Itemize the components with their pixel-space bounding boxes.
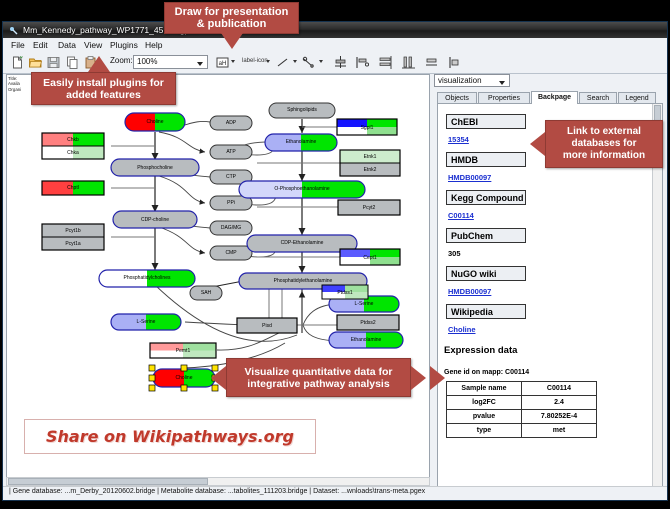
callout-draw-presentation: Draw for presentation & publication [164, 2, 299, 34]
tab-backpage[interactable]: Backpage [531, 91, 578, 104]
expression-data-table: Sample name C00114 log2FC 2.4 pvalue 7.8… [446, 381, 597, 438]
align-rows-icon[interactable] [378, 55, 393, 70]
screenshot-root: Mm_Kennedy_pathway_WP1771_45176.gpml Fil… [0, 0, 670, 509]
callout-install-plugins: Easily install plugins for added feature… [31, 72, 176, 105]
menu-item-file[interactable]: File [11, 39, 25, 51]
pathvisio-icon [9, 25, 19, 35]
cell-pvalue-value: 7.80252E-4 [522, 410, 597, 424]
status-bar: | Gene database: ...m_Derby_20120602.bri… [3, 486, 667, 500]
line-icon[interactable] [275, 55, 290, 70]
chevron-down-icon[interactable] [319, 60, 323, 63]
chevron-down-icon [499, 81, 505, 85]
bring-front-icon[interactable] [447, 55, 462, 70]
db-header-hmdb: HMDB [446, 152, 526, 167]
db-value-wikipedia[interactable]: Choline [448, 325, 476, 334]
title-bar: Mm_Kennedy_pathway_WP1771_45176.gpml [3, 22, 667, 38]
menu-item-view[interactable]: View [84, 39, 102, 51]
align-left-icon[interactable] [355, 55, 370, 70]
align-icon[interactable] [333, 55, 348, 70]
zoom-combo[interactable]: 100% [133, 55, 208, 69]
callout-arrow-right-visualize [411, 366, 426, 390]
table-row: type met [447, 424, 597, 438]
zoom-label: Zoom: [110, 56, 133, 65]
share-wikipathways-text: Share on Wikipathways.org [46, 427, 294, 446]
cell-type-label: type [447, 424, 522, 438]
chevron-down-icon[interactable] [231, 60, 235, 63]
callout-visualize-data: Visualize quantitative data for integrat… [226, 358, 411, 397]
chevron-down-icon [197, 62, 203, 66]
callout-viz-line1: Visualize quantitative data for [244, 366, 392, 378]
copy-icon[interactable] [65, 55, 80, 70]
anchor-icon[interactable] [301, 55, 316, 70]
callout-external-links: Link to external databases for more info… [545, 120, 663, 168]
callout-plugins-line1: Easily install plugins for [43, 77, 164, 89]
stack-icon[interactable] [424, 55, 439, 70]
open-folder-icon[interactable] [28, 55, 43, 70]
share-wikipathways-box: Share on Wikipathways.org [24, 419, 316, 454]
visualization-value: visualization [438, 76, 482, 85]
callout-draw-line2: & publication [197, 18, 267, 30]
zoom-value: 100% [137, 57, 157, 66]
cell-sample-name-label: Sample name [447, 382, 522, 396]
callout-arrow-up-plugins [88, 56, 110, 72]
svg-text:aH: aH [219, 61, 227, 67]
db-header-chebi: ChEBI [446, 114, 526, 129]
callout-plugins-line2: added features [66, 89, 141, 101]
callout-arrow-left-links [530, 132, 545, 156]
db-value-chebi[interactable]: 15354 [448, 135, 469, 144]
db-value-nugo[interactable]: HMDB00097 [448, 287, 491, 296]
callout-links-line2: databases for [571, 138, 636, 150]
chevron-down-icon[interactable] [293, 60, 297, 63]
chevron-down-icon[interactable] [266, 60, 270, 63]
cell-log2fc-value: 2.4 [522, 396, 597, 410]
menu-bar: File Edit Data View Plugins Help [3, 38, 667, 53]
visualization-combo[interactable]: visualization [434, 74, 510, 87]
gene-id-on-mapp: Gene id on mapp: C00114 [444, 369, 529, 376]
db-header-nugo: NuGO wiki [446, 266, 526, 281]
menu-item-help[interactable]: Help [145, 39, 162, 51]
cell-pvalue-label: pvalue [447, 410, 522, 424]
db-value-kegg[interactable]: C00114 [448, 211, 474, 220]
db-value-pubchem: 305 [448, 249, 461, 258]
expression-data-header: Expression data [444, 345, 517, 356]
menu-item-data[interactable]: Data [58, 39, 76, 51]
status-text: | Gene database: ...m_Derby_20120602.bri… [9, 488, 425, 495]
table-row: Sample name C00114 [447, 382, 597, 396]
db-value-hmdb[interactable]: HMDB00097 [448, 173, 491, 182]
callout-links-line1: Link to external [567, 126, 641, 138]
table-row: log2FC 2.4 [447, 396, 597, 410]
datanode-icon[interactable]: aH [215, 55, 230, 70]
callout-links-line3: more information [563, 150, 645, 162]
table-row: pvalue 7.80252E-4 [447, 410, 597, 424]
label-tool-label[interactable]: label-icon [242, 58, 268, 64]
db-header-wikipedia: Wikipedia [446, 304, 526, 319]
menu-item-plugins[interactable]: Plugins [110, 39, 138, 51]
db-header-kegg: Kegg Compound [446, 190, 526, 205]
cell-log2fc-label: log2FC [447, 396, 522, 410]
save-icon[interactable] [46, 55, 61, 70]
callout-draw-line1: Draw for presentation [175, 6, 289, 18]
scrollbar-thumb[interactable] [8, 478, 208, 485]
callout-arrow-right-expression [430, 366, 445, 390]
db-header-pubchem: PubChem [446, 228, 526, 243]
canvas-horizontal-scrollbar[interactable] [6, 477, 430, 486]
align-columns-icon[interactable] [401, 55, 416, 70]
menu-item-edit[interactable]: Edit [33, 39, 48, 51]
new-file-icon[interactable] [10, 55, 25, 70]
callout-arrow-down-draw [221, 33, 243, 49]
cell-type-value: met [522, 424, 597, 438]
callout-viz-line2: integrative pathway analysis [247, 378, 389, 390]
callout-arrow-left-visualize [211, 366, 226, 390]
cell-sample-name-value: C00114 [522, 382, 597, 396]
